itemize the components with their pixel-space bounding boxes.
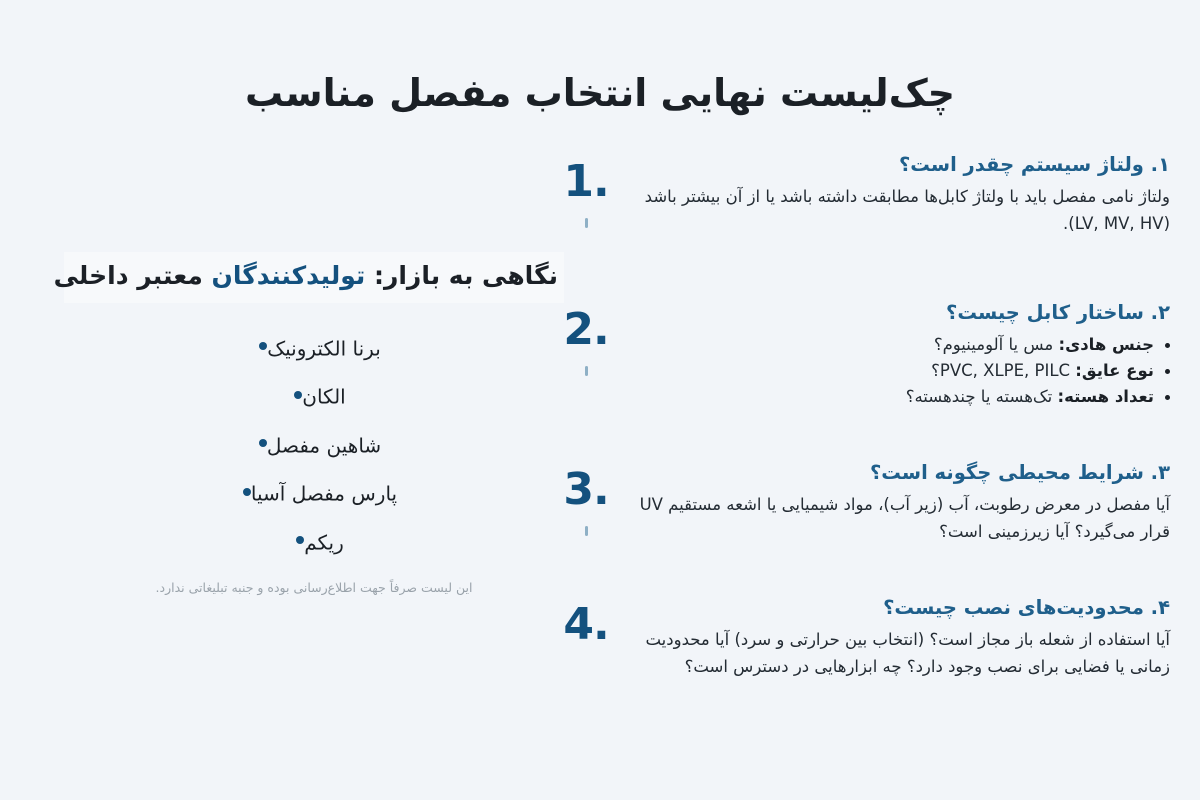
list-item: پارس مفصل آسیا bbox=[64, 482, 564, 504]
market-overview-panel: نگاهی به بازار: تولیدکنندگان معتبر داخلی… bbox=[64, 252, 564, 598]
checklist-item-heading: ۱. ولتاژ سیستم چقدر است؟ bbox=[626, 152, 1170, 178]
checklist-item-heading: ۳. شرایط محیطی چگونه است؟ bbox=[626, 460, 1170, 486]
checklist-item-body: ۱. ولتاژ سیستم چقدر است؟ ولتاژ نامی مفصل… bbox=[622, 152, 1170, 238]
checklist-item-text: آیا استفاده از شعله باز مجاز است؟ (انتخا… bbox=[626, 627, 1170, 680]
checklist-section: 1. ۱. ولتاژ سیستم چقدر است؟ ولتاژ نامی م… bbox=[550, 152, 1170, 735]
bullet-dot-icon bbox=[296, 536, 304, 544]
sub-item-label: جنس هادی: bbox=[1058, 335, 1154, 354]
manufacturer-name: برنا الکترونیک bbox=[267, 336, 381, 360]
list-item: جنس هادی: مس یا آلومینیوم؟ bbox=[626, 332, 1170, 358]
market-disclaimer-note: این لیست صرفاً جهت اطلاع‌رسانی بوده و جن… bbox=[64, 579, 564, 598]
checklist-item-heading: ۲. ساختار کابل چیست؟ bbox=[626, 300, 1170, 326]
list-item: الکان bbox=[64, 385, 564, 407]
checklist-item: 2. ۲. ساختار کابل چیست؟ جنس هادی: مس یا … bbox=[550, 300, 1170, 460]
sub-item-value: تک‌هسته یا چندهسته؟ bbox=[906, 387, 1053, 406]
list-item: نوع عایق: PVC, XLPE, PILC؟ bbox=[626, 358, 1170, 384]
checklist-item: 4. ۴. محدودیت‌های نصب چیست؟ آیا استفاده … bbox=[550, 595, 1170, 735]
market-heading-prefix: نگاهی به بازار: bbox=[365, 261, 558, 290]
step-number-gutter: 4. bbox=[550, 595, 622, 647]
list-item: تعداد هسته: تک‌هسته یا چندهسته؟ bbox=[626, 384, 1170, 410]
checklist-item-text: ولتاژ نامی مفصل باید با ولتاژ کابل‌ها مط… bbox=[626, 184, 1170, 237]
checklist-item-body: ۲. ساختار کابل چیست؟ جنس هادی: مس یا آلو… bbox=[622, 300, 1170, 411]
checklist-item: 1. ۱. ولتاژ سیستم چقدر است؟ ولتاژ نامی م… bbox=[550, 152, 1170, 300]
step-number: 4. bbox=[563, 603, 608, 647]
timeline-connector bbox=[585, 526, 588, 536]
manufacturer-list: برنا الکترونیک الکان شاهین مفصل پارس مفص… bbox=[64, 337, 564, 553]
manufacturer-name: ریکم bbox=[304, 530, 344, 554]
timeline-connector bbox=[585, 366, 588, 376]
checklist-item-body: ۳. شرایط محیطی چگونه است؟ آیا مفصل در مع… bbox=[622, 460, 1170, 546]
list-item: شاهین مفصل bbox=[64, 434, 564, 456]
sub-item-value: مس یا آلومینیوم؟ bbox=[934, 335, 1053, 354]
manufacturer-name: پارس مفصل آسیا bbox=[251, 482, 397, 506]
sub-item-label: تعداد هسته: bbox=[1058, 387, 1154, 406]
checklist-item-body: ۴. محدودیت‌های نصب چیست؟ آیا استفاده از … bbox=[622, 595, 1170, 681]
checklist-sub-list: جنس هادی: مس یا آلومینیوم؟ نوع عایق: PVC… bbox=[626, 332, 1170, 410]
list-item: برنا الکترونیک bbox=[64, 337, 564, 359]
step-number: 2. bbox=[563, 308, 608, 352]
page-title: چک‌لیست نهایی انتخاب مفصل مناسب bbox=[0, 70, 1200, 118]
step-number: 1. bbox=[563, 160, 608, 204]
timeline-connector bbox=[585, 218, 588, 228]
step-number-gutter: 1. bbox=[550, 152, 622, 228]
checklist-item-text: آیا مفصل در معرض رطوبت، آب (زیر آب)، موا… bbox=[626, 492, 1170, 545]
step-number: 3. bbox=[563, 468, 608, 512]
market-heading-suffix: معتبر داخلی bbox=[54, 261, 212, 290]
sub-item-value: PVC, XLPE, PILC؟ bbox=[931, 361, 1070, 380]
checklist-item-heading: ۴. محدودیت‌های نصب چیست؟ bbox=[626, 595, 1170, 621]
market-heading-highlight: تولیدکنندگان bbox=[212, 261, 366, 290]
manufacturer-name: الکان bbox=[302, 385, 345, 409]
bullet-dot-icon bbox=[259, 439, 267, 447]
manufacturer-name: شاهین مفصل bbox=[267, 433, 381, 457]
market-panel-heading: نگاهی به بازار: تولیدکنندگان معتبر داخلی bbox=[64, 252, 564, 303]
checklist-item: 3. ۳. شرایط محیطی چگونه است؟ آیا مفصل در… bbox=[550, 460, 1170, 595]
bullet-dot-icon bbox=[294, 391, 302, 399]
bullet-dot-icon bbox=[243, 488, 251, 496]
list-item: ریکم bbox=[64, 531, 564, 553]
sub-item-label: نوع عایق: bbox=[1075, 361, 1154, 380]
